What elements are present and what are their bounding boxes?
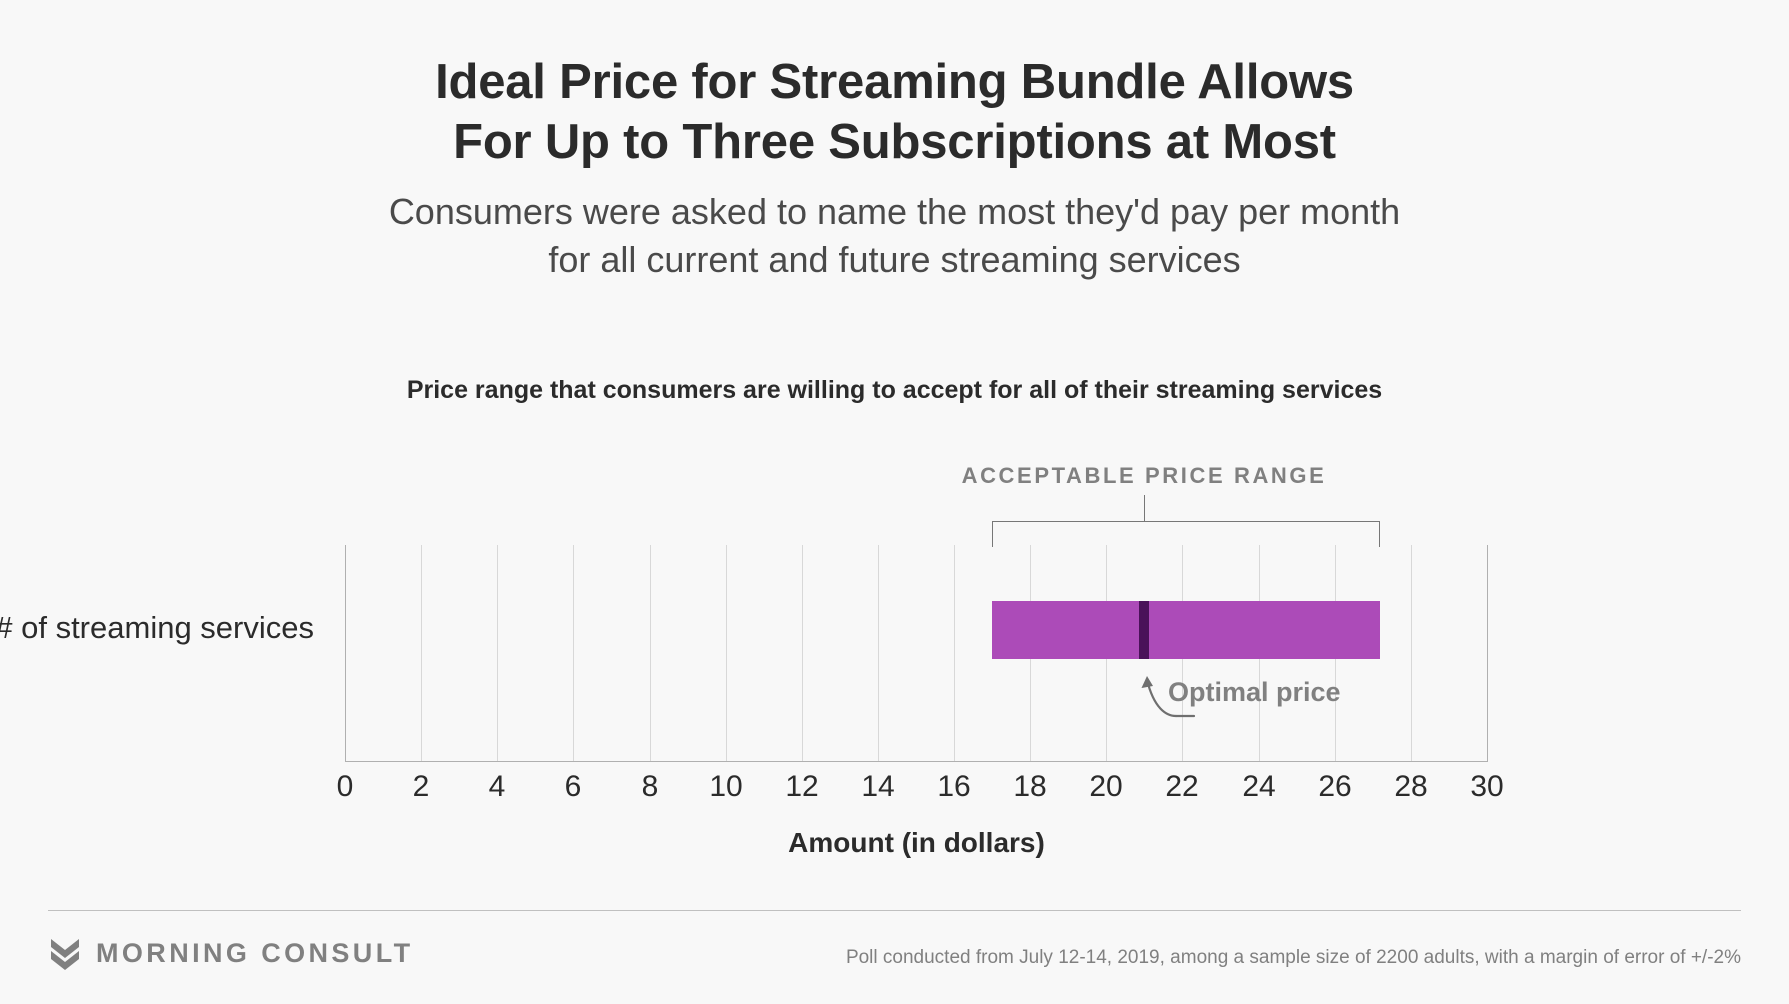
x-tick-label-20: 20 — [1076, 770, 1136, 804]
gridline-16 — [954, 545, 955, 762]
plot-area: ACCEPTABLE PRICE RANGE Price for total #… — [0, 0, 1789, 1004]
axis-line-right — [1487, 545, 1488, 762]
axis-line-left — [345, 545, 346, 762]
double-chevron-down-icon — [48, 936, 82, 970]
poll-footnote: Poll conducted from July 12-14, 2019, am… — [846, 947, 1741, 969]
optimal-price-label: Optimal price — [1168, 677, 1341, 708]
x-tick-label-8: 8 — [620, 770, 680, 804]
x-tick-label-0: 0 — [315, 770, 375, 804]
x-axis-title: Amount (in dollars) — [345, 827, 1488, 859]
bracket-box — [992, 521, 1380, 547]
x-tick-label-16: 16 — [924, 770, 984, 804]
gridline-6 — [573, 545, 574, 762]
x-tick-label-4: 4 — [467, 770, 527, 804]
x-tick-label-30: 30 — [1457, 770, 1517, 804]
gridline-4 — [497, 545, 498, 762]
x-tick-label-26: 26 — [1305, 770, 1365, 804]
gridline-12 — [802, 545, 803, 762]
acceptable-price-range-bar — [992, 601, 1380, 659]
x-tick-label-12: 12 — [772, 770, 832, 804]
footer-divider — [48, 910, 1741, 911]
gridline-10 — [726, 545, 727, 762]
x-tick-label-18: 18 — [1000, 770, 1060, 804]
x-tick-label-22: 22 — [1152, 770, 1212, 804]
acceptable-price-range-label: ACCEPTABLE PRICE RANGE — [962, 463, 1327, 489]
gridline-8 — [650, 545, 651, 762]
gridline-2 — [421, 545, 422, 762]
bracket-stem — [1144, 495, 1145, 521]
x-tick-label-28: 28 — [1381, 770, 1441, 804]
bar-row-label: Price for total # of streaming services — [0, 610, 314, 646]
gridline-28 — [1411, 545, 1412, 762]
x-tick-label-10: 10 — [696, 770, 756, 804]
chart-canvas: Ideal Price for Streaming Bundle Allows … — [0, 0, 1789, 1004]
brand-name: MORNING CONSULT — [96, 938, 413, 969]
x-tick-label-14: 14 — [848, 770, 908, 804]
brand-logo: MORNING CONSULT — [48, 936, 413, 970]
axis-line-bottom — [345, 761, 1488, 762]
x-tick-label-6: 6 — [543, 770, 603, 804]
optimal-price-marker — [1139, 601, 1149, 659]
x-tick-label-24: 24 — [1229, 770, 1289, 804]
gridline-14 — [878, 545, 879, 762]
x-tick-label-2: 2 — [391, 770, 451, 804]
